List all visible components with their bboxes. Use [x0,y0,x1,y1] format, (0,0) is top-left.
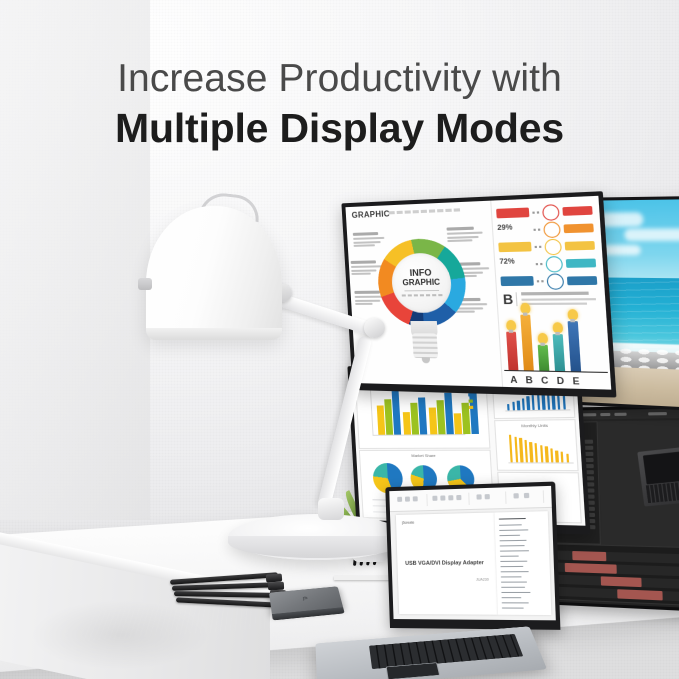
percent-chip [496,208,529,219]
bulb-icon [552,322,563,333]
legend-swatch [469,406,473,409]
lamp-mid-joint [364,318,385,338]
ribbon-icon[interactable] [513,493,518,498]
bulb-label-line2: GRAPHIC [402,278,440,288]
menu-item[interactable] [582,413,596,416]
infographic-right-pane: 29% 72% [490,196,611,390]
lightbulb-screw-base [412,333,438,358]
menu-item[interactable] [614,413,626,416]
bar-series [509,430,575,463]
bar [568,321,582,371]
preview-laptop-screen [642,450,679,484]
ribbon-icon[interactable] [448,495,453,500]
percent-row [498,238,599,256]
ribbon-icon[interactable] [456,495,461,500]
percent-icon-circle [544,239,562,256]
ribbon-icon[interactable] [413,496,418,501]
ribbon-icon[interactable] [524,493,529,498]
timeline-clip[interactable] [601,576,642,587]
legend-swatch [469,400,473,403]
chart-axis [508,462,573,463]
percent-bar [565,241,595,251]
display-cable [174,591,278,598]
bar [538,345,550,371]
chart-title: Monthly Units [521,423,548,429]
bulb-icon [537,333,548,344]
percent-label: 72% [499,258,515,266]
percent-bar [562,206,592,216]
ribbon-icon[interactable] [432,496,437,501]
menu-item[interactable] [600,413,610,416]
percent-bar [567,276,597,285]
bulb-label-rule [404,290,439,291]
bulb-label-line1: INFO [409,269,431,279]
ribbon-icon[interactable] [485,494,490,499]
bulb-icon [520,303,531,314]
percent-row [500,273,601,290]
lightbulb-tip [422,357,431,363]
headline-line-2: Multiple Display Modes [0,104,679,153]
percent-chip [498,242,531,252]
percent-icon-circle [543,221,561,238]
bar-label: A [510,374,518,385]
percent-row: 29% [497,220,597,238]
notes-panel[interactable] [494,511,551,615]
presentation-app[interactable]: j5create USB VGA/DVI Display Adapter JUA… [389,486,556,620]
section-letter: B [502,291,513,307]
percent-row: 72% [499,255,600,272]
bar-label: C [541,375,549,386]
percent-chip [500,276,533,286]
adapter-logo: j5 [302,596,308,600]
lamp-shade-lip [146,328,282,340]
app-ribbon[interactable] [389,486,552,512]
percent-bar [563,223,593,233]
slide-title: USB VGA/DVI Display Adapter [405,560,490,568]
editor-preview[interactable] [597,419,679,548]
bulb-icon [567,309,578,320]
laptop-base[interactable] [315,626,547,679]
ribbon-icon[interactable] [405,497,410,502]
bulb-label-subtext [402,294,443,296]
lamp-knob [138,278,152,290]
percent-icon-circle [545,256,563,273]
editor-timeline[interactable] [542,543,679,608]
section-heading-text [521,292,589,296]
j5create-logo: j5create [402,520,415,526]
bar-label: E [572,376,580,387]
bar [506,332,518,370]
slide-canvas[interactable]: j5create USB VGA/DVI Display Adapter JUA… [396,512,498,614]
chart-card-units[interactable]: Monthly Units [494,419,579,471]
lamp-shade [146,206,282,338]
percent-bar [566,259,596,268]
percent-row [496,203,596,222]
timeline-clip[interactable] [565,563,617,574]
timeline-clip[interactable] [617,589,663,600]
lamp-lower-arm [317,335,373,511]
bar [520,315,534,371]
laptop[interactable]: j5create USB VGA/DVI Display Adapter JUA… [318,487,550,679]
chart-title: Market Share [411,453,436,458]
ribbon-icon[interactable] [476,494,481,499]
percent-label: 29% [497,224,513,232]
ribbon-icon[interactable] [397,497,402,502]
bulb-icon [505,320,515,331]
percent-icon-circle [542,204,560,221]
preview-laptop-render [637,445,679,507]
slide-subtitle: JUA230 [476,578,489,582]
cloud [624,228,679,241]
bar-label: D [556,375,564,386]
product-marketing-image: Increase Productivity with Multiple Disp… [0,0,679,679]
headline: Increase Productivity with Multiple Disp… [0,56,679,153]
headline-line-1: Increase Productivity with [0,56,679,102]
bar [553,334,566,371]
section-divider [516,292,518,306]
timeline-track[interactable] [558,587,679,604]
laptop-keyboard[interactable] [369,634,524,669]
bar-chart-axis [504,370,608,374]
section-body-text [521,298,596,300]
display-cable [176,597,278,607]
bar-label: B [525,375,533,386]
legend-swatch [468,393,472,396]
percent-icon-circle [546,273,564,289]
laptop-lid: j5create USB VGA/DVI Display Adapter JUA… [385,482,560,630]
menu-item[interactable] [648,412,667,415]
section-body-text [522,303,587,305]
ribbon-icon[interactable] [440,495,445,500]
timeline-clip[interactable] [572,551,606,561]
